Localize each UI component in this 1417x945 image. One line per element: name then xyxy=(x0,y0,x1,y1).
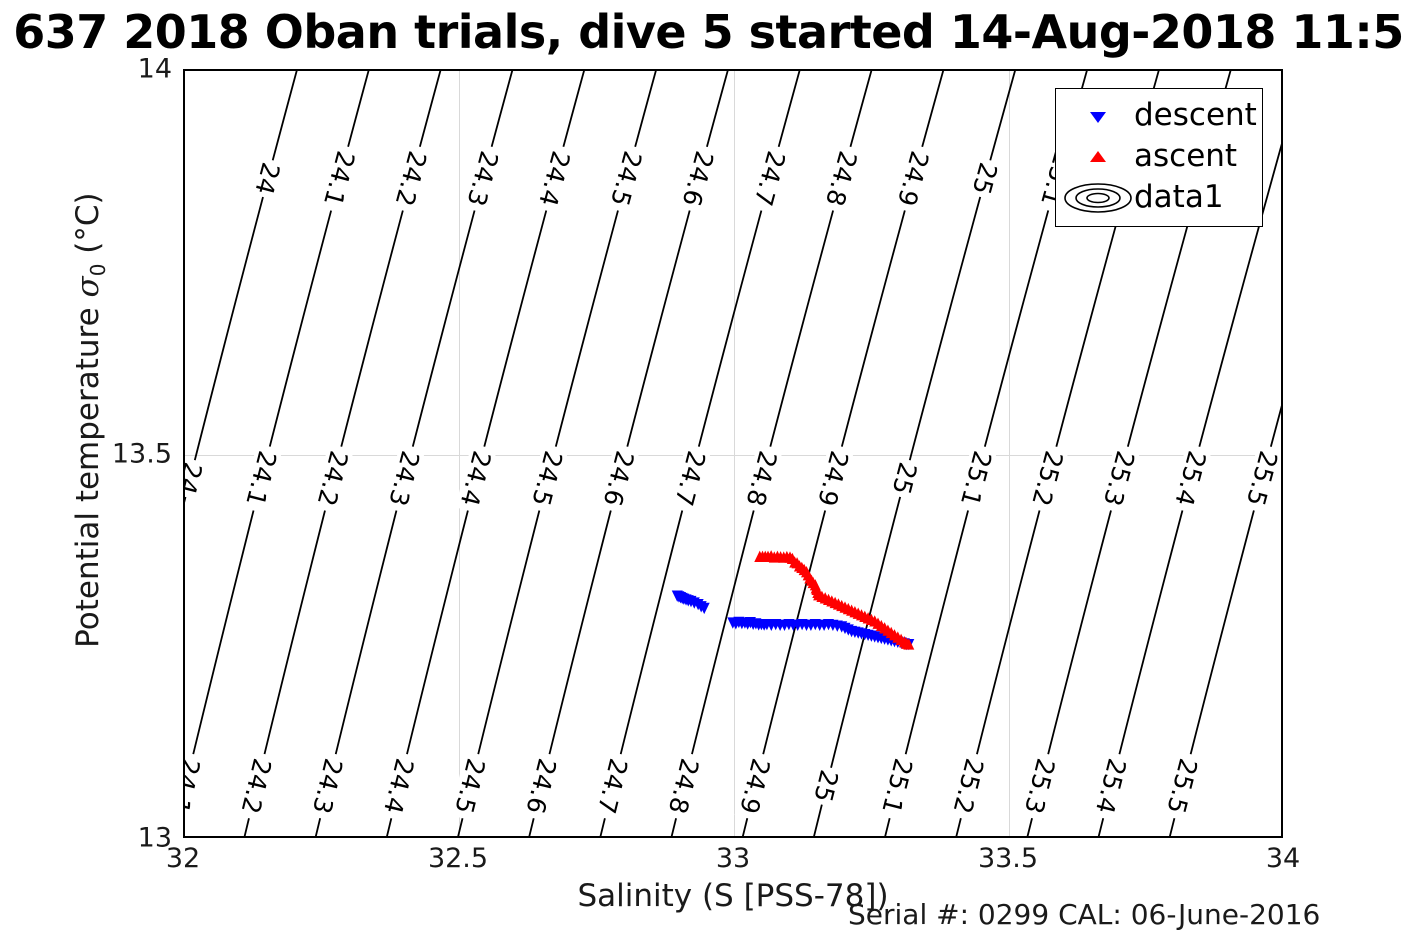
y-tick-label: 13 xyxy=(138,823,172,854)
up-triangle-icon xyxy=(1062,147,1134,167)
legend[interactable]: descent ascent data1 xyxy=(1055,88,1263,227)
contour-ellipses-icon xyxy=(1062,180,1134,216)
legend-label-ascent: ascent xyxy=(1134,140,1237,173)
y-axis-label-subscript: 0 xyxy=(86,264,110,277)
y-axis-label-prefix: Potential temperature xyxy=(70,297,106,647)
y-tick-label: 13.5 xyxy=(112,438,172,469)
legend-item-descent[interactable]: descent xyxy=(1056,95,1262,136)
figure-canvas: 637 2018 Oban trials, dive 5 started 14-… xyxy=(0,0,1417,945)
serial-calibration-note: Serial #: 0299 CAL: 06-June-2016 xyxy=(848,898,1320,931)
legend-item-ascent[interactable]: ascent xyxy=(1056,136,1262,177)
legend-label-descent: descent xyxy=(1134,99,1257,132)
y-axis-label-sigma: σ xyxy=(70,276,106,297)
legend-label-data1: data1 xyxy=(1134,181,1224,214)
page-title: 637 2018 Oban trials, dive 5 started 14-… xyxy=(0,6,1417,58)
x-tick-label: 34 xyxy=(1266,843,1300,874)
legend-item-data1[interactable]: data1 xyxy=(1056,177,1262,218)
x-tick-label: 33.5 xyxy=(978,843,1038,874)
y-axis-label: Potential temperature σ0 (°C) xyxy=(70,100,110,740)
x-tick-label: 32.5 xyxy=(428,843,488,874)
y-axis-label-suffix: (°C) xyxy=(70,192,106,263)
down-triangle-icon xyxy=(1062,106,1134,126)
y-tick-label: 14 xyxy=(138,54,172,85)
x-tick-label: 33 xyxy=(716,843,750,874)
